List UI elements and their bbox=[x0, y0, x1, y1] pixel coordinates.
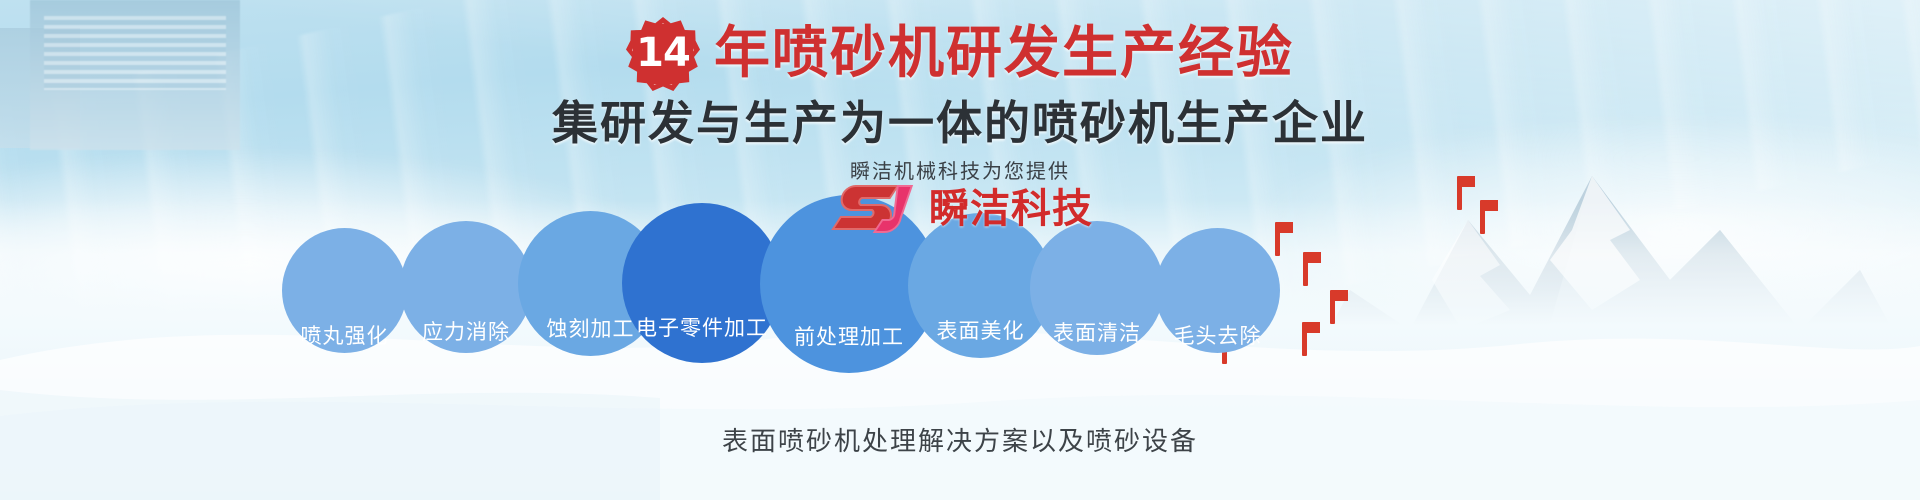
service-label-5: 前处理加工 bbox=[794, 321, 904, 351]
years-badge: 14 bbox=[626, 17, 700, 91]
years-badge-number: 14 bbox=[636, 33, 690, 75]
headline-block: 14 年喷砂机研发生产经验 集研发与生产为一体的喷砂机生产企业 瞬洁机械科技为您… bbox=[0, 18, 1920, 181]
footer-tagline: 表面喷砂机处理解决方案以及喷砂设备 bbox=[0, 421, 1920, 458]
company-logo[interactable]: 瞬洁科技 bbox=[0, 178, 1920, 240]
logo-wordmark: 瞬洁科技 bbox=[929, 189, 1093, 229]
promo-banner: 14 年喷砂机研发生产经验 集研发与生产为一体的喷砂机生产企业 瞬洁机械科技为您… bbox=[0, 0, 1920, 500]
service-label-7: 表面清洁 bbox=[1053, 317, 1141, 347]
service-label-8: 毛头去除 bbox=[1174, 320, 1262, 350]
service-circle-1[interactable]: 喷丸强化 bbox=[282, 228, 407, 353]
headline-line-1: 14 年喷砂机研发生产经验 bbox=[626, 18, 1294, 90]
sj-monogram-icon bbox=[827, 178, 919, 240]
headline-primary-text: 年喷砂机研发生产经验 bbox=[714, 26, 1294, 82]
headline-line-2: 集研发与生产为一体的喷砂机生产企业 bbox=[0, 98, 1920, 149]
service-circle-7[interactable]: 表面清洁 bbox=[1030, 221, 1164, 355]
service-label-4: 电子零件加工 bbox=[636, 312, 768, 342]
service-circle-2[interactable]: 应力消除 bbox=[400, 221, 532, 353]
service-circle-8[interactable]: 毛头去除 bbox=[1155, 228, 1280, 353]
service-label-3: 蚀刻加工 bbox=[547, 313, 635, 343]
service-label-2: 应力消除 bbox=[422, 316, 510, 346]
service-label-1: 喷丸强化 bbox=[301, 320, 389, 350]
service-label-6: 表面美化 bbox=[937, 315, 1025, 345]
